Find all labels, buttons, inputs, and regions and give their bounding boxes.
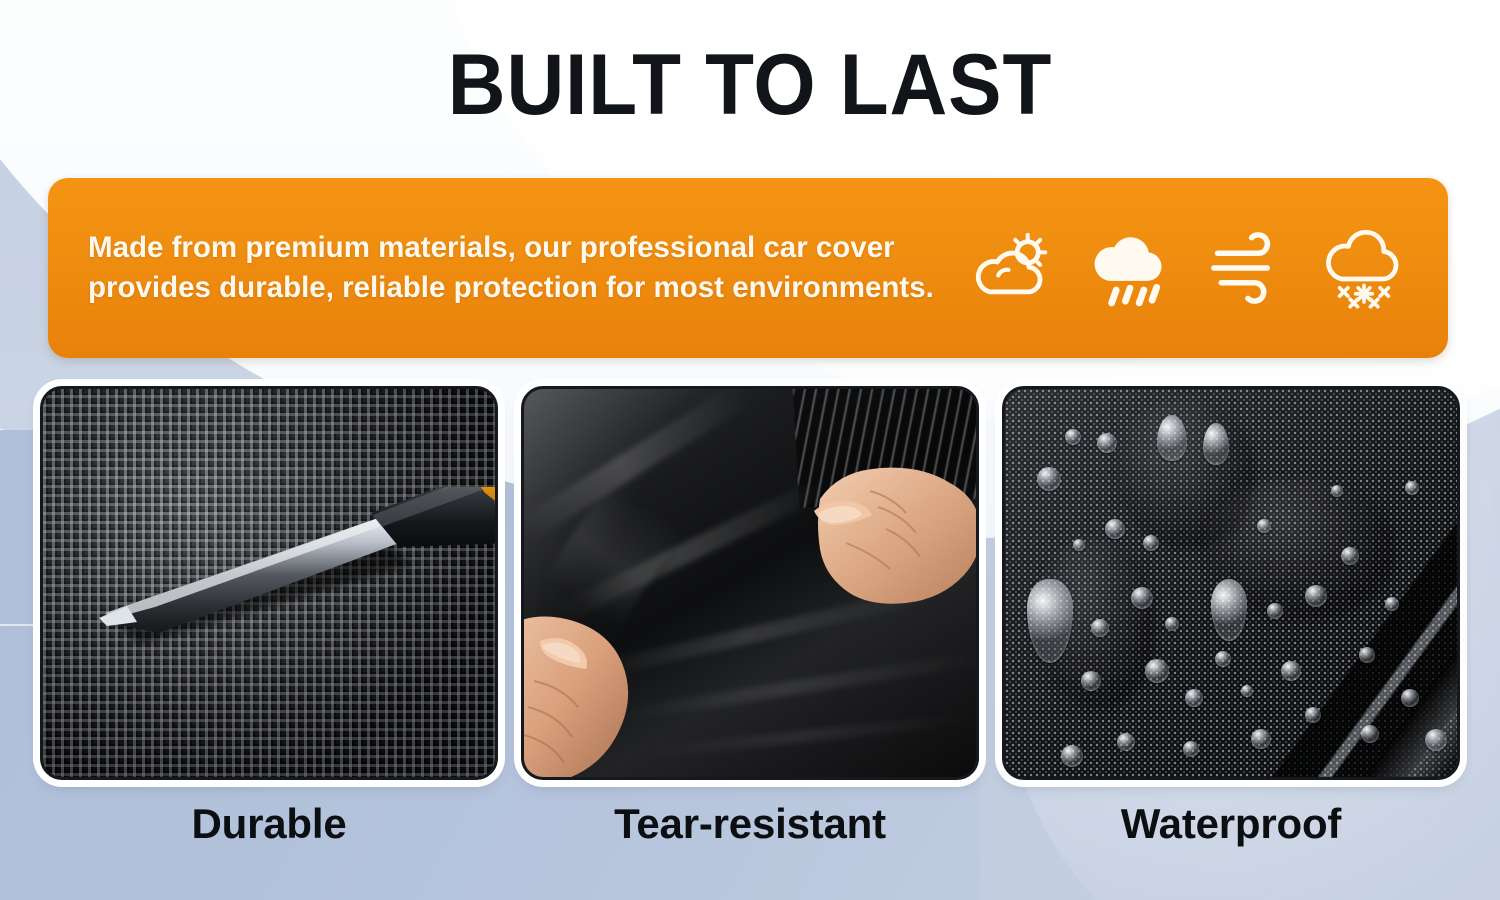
banner-description: Made from premium materials, our profess… <box>48 228 948 308</box>
infographic-page: BUILT TO LAST Made from premium material… <box>0 0 1500 900</box>
hand-graphic <box>524 589 700 777</box>
feature-photo-frame <box>521 386 979 780</box>
feature-card-waterproof: Waterproof <box>1002 386 1460 848</box>
feature-caption: Waterproof <box>1121 800 1341 848</box>
feature-photo-frame <box>40 386 498 780</box>
feature-caption: Durable <box>192 800 347 848</box>
screwdriver-graphic <box>81 487 495 697</box>
durable-fabric-photo <box>43 389 495 777</box>
feature-photo-frame <box>1002 386 1460 780</box>
feature-card-durable: Durable <box>40 386 498 848</box>
snow-cloud-icon <box>1318 222 1410 314</box>
highlight-banner: Made from premium materials, our profess… <box>48 178 1448 358</box>
wind-icon <box>1201 222 1293 314</box>
tear-resistant-photo <box>524 389 976 777</box>
page-title: BUILT TO LAST <box>53 36 1448 135</box>
sun-behind-cloud-icon <box>967 222 1059 314</box>
feature-caption: Tear-resistant <box>614 800 886 848</box>
waterproof-photo <box>1005 389 1457 777</box>
rain-cloud-icon <box>1084 222 1176 314</box>
feature-card-tear-resistant: Tear-resistant <box>521 386 979 848</box>
hand-graphic <box>774 433 976 613</box>
weather-icon-row <box>948 222 1448 314</box>
feature-card-row: Durable <box>0 386 1500 848</box>
